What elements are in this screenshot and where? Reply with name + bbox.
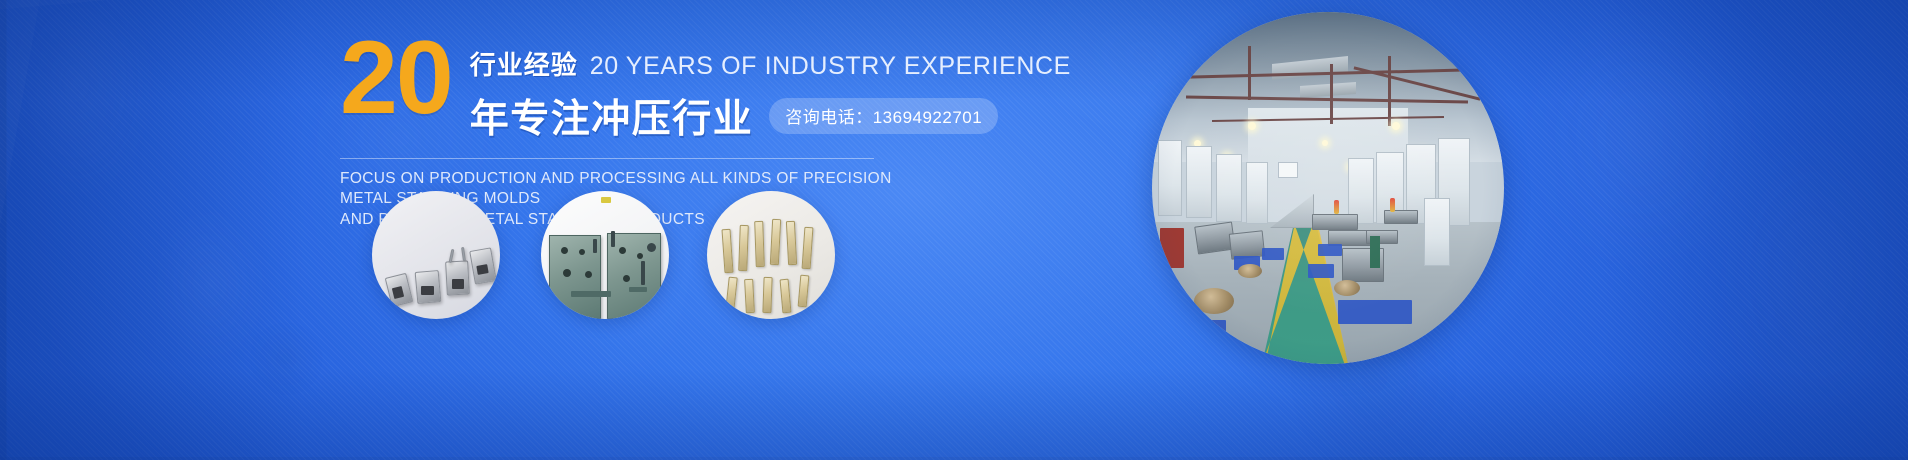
terminal-pin bbox=[762, 277, 772, 313]
promo-banner: 20 行业经验 20 YEARS OF INDUSTRY EXPERIENCE … bbox=[0, 0, 1908, 460]
mould-hole bbox=[637, 253, 643, 259]
mould-hole bbox=[623, 275, 630, 282]
terminal-pin bbox=[754, 221, 765, 267]
mould-pin bbox=[611, 231, 615, 247]
connector-part bbox=[445, 260, 470, 295]
factory-workshop-photo bbox=[1152, 12, 1504, 364]
mould-rib bbox=[571, 291, 611, 297]
cn-title: 年专注冲压行业 bbox=[470, 88, 754, 144]
headline-row: 20 行业经验 20 YEARS OF INDUSTRY EXPERIENCE … bbox=[340, 36, 1160, 144]
mould-hole bbox=[563, 269, 571, 277]
headline-line-2: 年专注冲压行业 咨询电话：13694922701 bbox=[470, 88, 1071, 144]
phone-badge[interactable]: 咨询电话：13694922701 bbox=[769, 98, 998, 134]
photo-shading bbox=[1152, 12, 1504, 364]
mould-pin bbox=[641, 261, 645, 285]
years-number: 20 bbox=[340, 34, 452, 123]
terminal-pins-photo bbox=[707, 191, 835, 319]
mould-boss bbox=[647, 243, 656, 252]
connector-port bbox=[452, 279, 464, 289]
mould-hole bbox=[561, 247, 568, 254]
connector-port bbox=[421, 286, 434, 295]
cn-subtitle: 行业经验 bbox=[470, 45, 578, 82]
connector-port bbox=[476, 264, 488, 275]
connector-shells-photo bbox=[372, 191, 500, 319]
en-headline: 20 YEARS OF INDUSTRY EXPERIENCE bbox=[590, 52, 1071, 81]
stamping-mould-photo bbox=[541, 191, 669, 319]
headline-divider bbox=[340, 158, 874, 159]
mould-hole bbox=[619, 247, 626, 254]
mould-rib bbox=[629, 287, 647, 292]
terminal-pin bbox=[738, 225, 749, 271]
mould-pin bbox=[593, 239, 597, 253]
terminal-pin bbox=[744, 279, 755, 313]
mould-hole bbox=[579, 249, 585, 255]
mould-hole bbox=[585, 271, 592, 278]
headline-text-group: 行业经验 20 YEARS OF INDUSTRY EXPERIENCE 年专注… bbox=[470, 36, 1071, 144]
mould-marker bbox=[601, 197, 611, 203]
headline-line-1: 行业经验 20 YEARS OF INDUSTRY EXPERIENCE bbox=[470, 45, 1071, 82]
